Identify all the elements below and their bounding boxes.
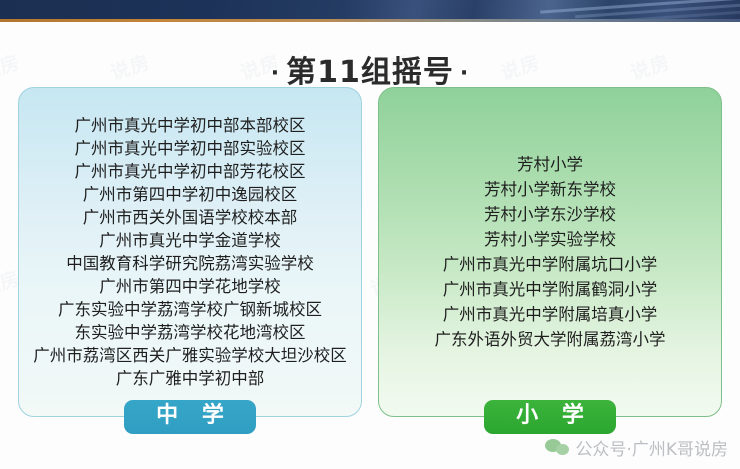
title-text: 第11组摇号 — [286, 55, 454, 90]
school-list-item: 广州市荔湾区西关广雅实验学校大坦沙校区 — [25, 344, 355, 367]
middle-school-badge-wrap: 中 学 — [18, 400, 362, 434]
school-list-item: 中国教育科学研究院荔湾实验学校 — [25, 252, 355, 275]
school-list-item: 广州市真光中学附属培真小学 — [385, 302, 715, 327]
footer-watermark: 公众号·广州K哥说房 — [545, 435, 728, 460]
school-list-item: 广州市第四中学初中逸园校区 — [25, 183, 355, 206]
school-list-item: 广州市真光中学初中部实验校区 — [25, 137, 355, 160]
school-list-item: 芳村小学东沙学校 — [385, 202, 715, 227]
footer-watermark-text: 公众号·广州K哥说房 — [575, 435, 728, 460]
wechat-icon — [545, 438, 569, 458]
banner-gold-line — [0, 19, 740, 22]
page-title: ·第11组摇号· — [0, 47, 740, 91]
primary-school-panel: 芳村小学芳村小学新东学校芳村小学东沙学校芳村小学实验学校广州市真光中学附属坑口小… — [378, 87, 722, 417]
school-list-item: 广州市真光中学附属鹤洞小学 — [385, 277, 715, 302]
panels-container: 广州市真光中学初中部本部校区广州市真光中学初中部实验校区广州市真光中学初中部芳花… — [0, 87, 740, 427]
middle-school-panel: 广州市真光中学初中部本部校区广州市真光中学初中部实验校区广州市真光中学初中部芳花… — [18, 87, 362, 417]
page-content: 说房说房说房说房说房说房说房说房说房说房说房说房说房说房说房说房说房说房说房说房… — [0, 23, 740, 469]
school-list-item: 广州市真光中学附属坑口小学 — [385, 252, 715, 277]
school-list-item: 广州市第四中学花地学校 — [25, 275, 355, 298]
school-list-item: 芳村小学 — [385, 152, 715, 177]
primary-school-badge: 小 学 — [484, 400, 616, 434]
school-list-item: 芳村小学新东学校 — [385, 177, 715, 202]
school-list-item: 芳村小学实验学校 — [385, 227, 715, 252]
top-banner — [0, 0, 740, 22]
title-left-dot: · — [265, 61, 286, 86]
school-list-item: 广东广雅中学初中部 — [25, 367, 355, 390]
primary-school-badge-wrap: 小 学 — [378, 400, 722, 434]
school-list-item: 广州市真光中学初中部本部校区 — [25, 114, 355, 137]
primary-school-list: 芳村小学芳村小学新东学校芳村小学东沙学校芳村小学实验学校广州市真光中学附属坑口小… — [379, 152, 721, 352]
school-list-item: 广州市真光中学初中部芳花校区 — [25, 160, 355, 183]
school-list-item: 广州市真光中学金道学校 — [25, 229, 355, 252]
school-list-item: 广东实验中学荔湾学校广钢新城校区 — [25, 298, 355, 321]
middle-school-badge: 中 学 — [124, 400, 256, 434]
school-list-item: 东实验中学荔湾学校花地湾校区 — [25, 321, 355, 344]
middle-school-list: 广州市真光中学初中部本部校区广州市真光中学初中部实验校区广州市真光中学初中部芳花… — [19, 114, 361, 390]
school-list-item: 广州市西关外国语学校校本部 — [25, 206, 355, 229]
school-list-item: 广东外语外贸大学附属荔湾小学 — [385, 327, 715, 352]
title-right-dot: · — [454, 61, 475, 86]
